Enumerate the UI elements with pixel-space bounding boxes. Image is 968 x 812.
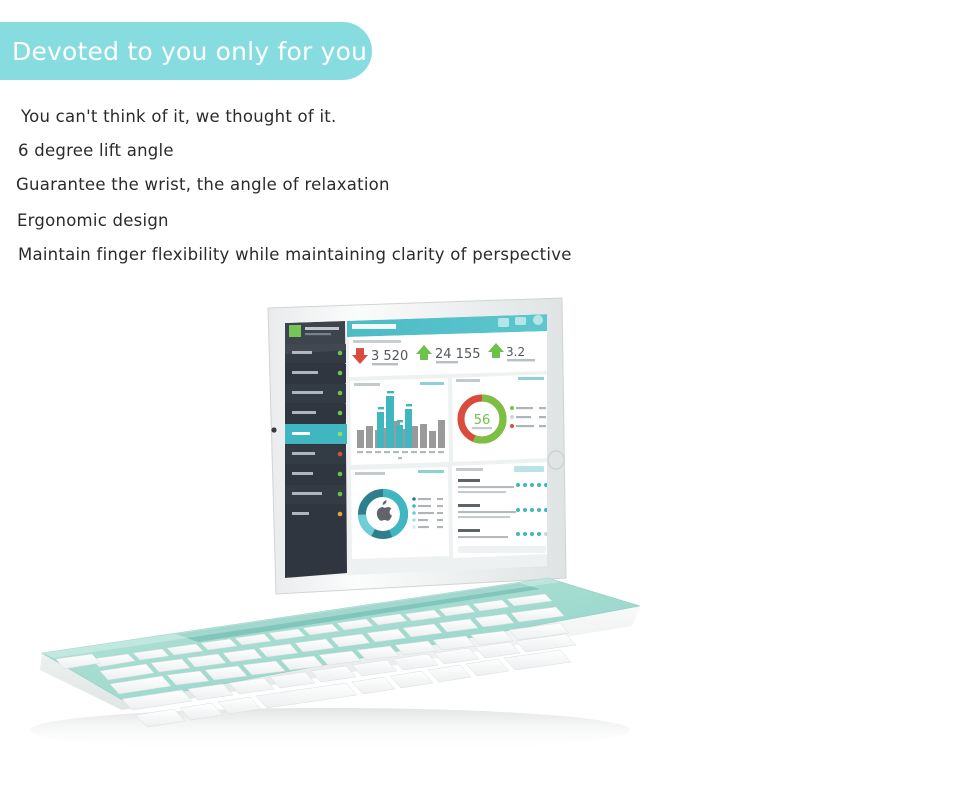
sidebar-item-bank-accounts[interactable] <box>285 384 346 403</box>
kpi-value: 24 155 <box>435 347 481 362</box>
statistics-chart-panel <box>350 378 449 465</box>
product-photo: 3 520 24 155 3.2 <box>0 278 968 778</box>
kpi-current-sales: 3 520 <box>352 348 408 365</box>
last-comments-panel <box>452 462 551 558</box>
banner-title: Devoted to you only for you <box>0 37 367 66</box>
kpi-caption <box>372 363 398 365</box>
panel-title <box>354 383 380 386</box>
product-shadow <box>30 708 630 752</box>
product-illustration: 3 520 24 155 3.2 <box>0 278 968 778</box>
sidebar-item-items-view[interactable] <box>285 465 346 484</box>
kpi-value: 3.2 <box>506 345 525 359</box>
load-more-button[interactable] <box>458 546 546 553</box>
sidebar-item-phone-sales[interactable] <box>285 364 346 383</box>
kpi-value: 3 520 <box>371 349 408 364</box>
panel-title <box>355 472 385 475</box>
front-camera-icon <box>271 427 276 432</box>
sidebar-item-stock-accounts[interactable] <box>285 485 346 504</box>
kpi-caption <box>507 359 535 361</box>
feature-line: Guarantee the wrist, the angle of relaxa… <box>0 168 700 202</box>
gauge-survey-panel: 56 <box>452 374 551 462</box>
panel-title <box>456 468 483 471</box>
panel-action[interactable] <box>420 382 444 385</box>
feature-list: You can't think of it, we thought of it.… <box>0 100 700 272</box>
feature-line: You can't think of it, we thought of it. <box>0 100 700 134</box>
feature-line: Maintain finger flexibility while mainta… <box>0 238 700 272</box>
header-banner: Devoted to you only for you <box>0 22 372 80</box>
sales-by-device-panel <box>351 467 449 559</box>
sidebar-item-cases[interactable] <box>285 505 346 524</box>
panel-action[interactable] <box>518 377 544 380</box>
feature-line: Ergonomic design <box>0 204 700 238</box>
sidebar-item-spendings[interactable] <box>285 404 346 423</box>
panel-action[interactable] <box>514 466 544 472</box>
panel-title <box>456 379 480 382</box>
kpi-caption <box>436 361 458 363</box>
sidebar-item-sales[interactable] <box>285 424 347 444</box>
gauge-value: 56 <box>474 413 491 428</box>
sidebar-item-products[interactable] <box>285 445 346 464</box>
feature-line: 6 degree lift angle <box>0 134 700 168</box>
panel-action[interactable] <box>418 470 444 473</box>
tablet: 3 520 24 155 3.2 <box>268 298 566 594</box>
keyboard <box>40 578 640 727</box>
gauge-label <box>472 427 492 429</box>
